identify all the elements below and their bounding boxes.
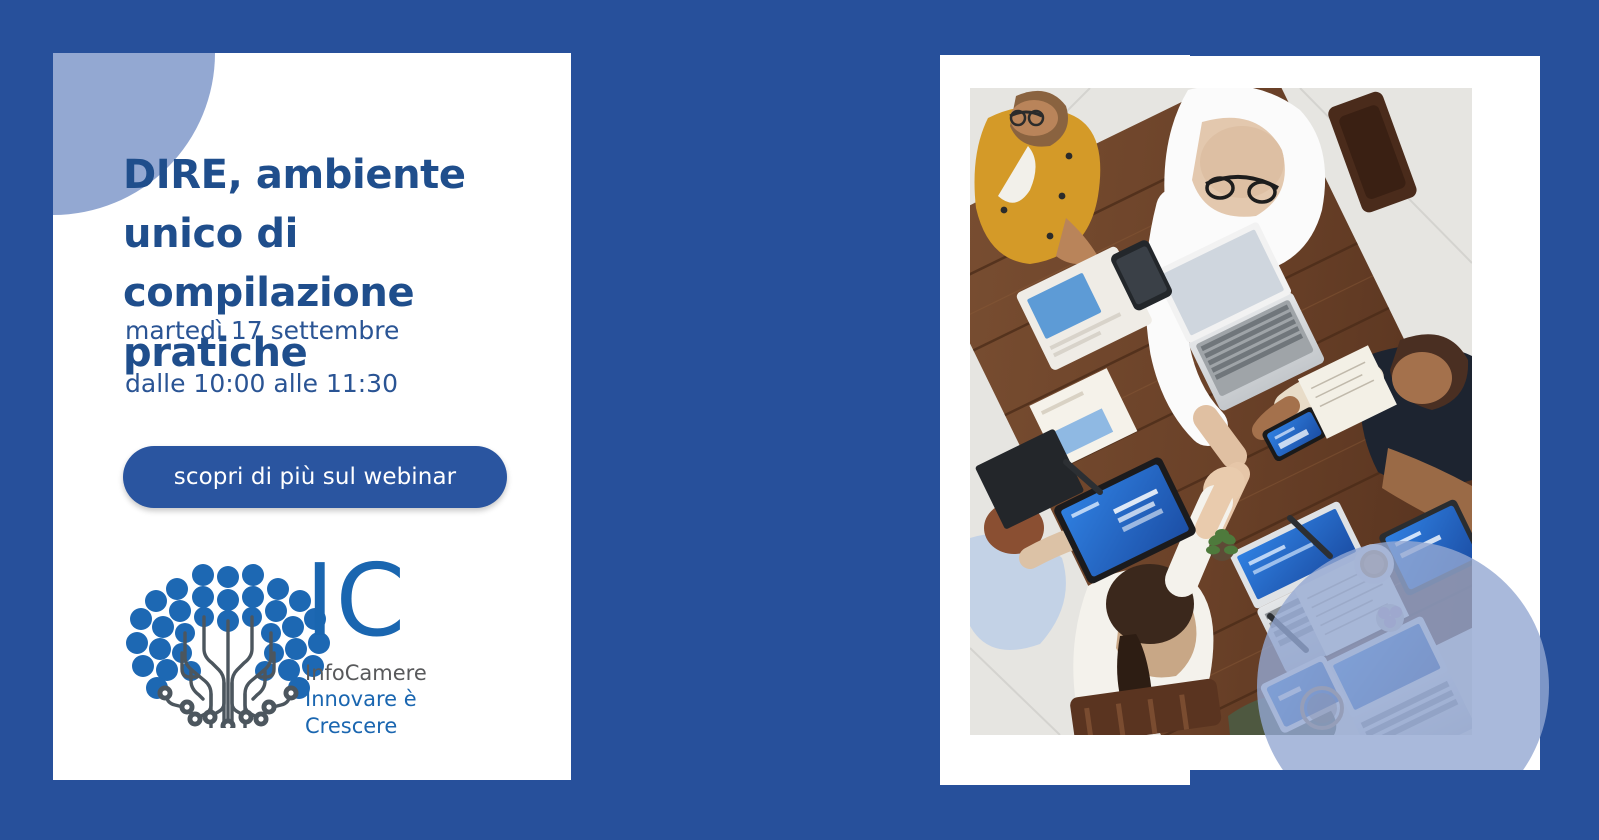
logo-tagline: Innovare è Crescere xyxy=(305,686,485,739)
circuit-tree-icon xyxy=(126,564,330,728)
logo-company-name: InfoCamere xyxy=(305,660,485,686)
blue-band-bottom-right xyxy=(1190,770,1540,840)
content-card: DIRE, ambiente unico di compilazione pra… xyxy=(53,53,571,780)
blue-band-top-left xyxy=(0,0,571,56)
blue-band-bottom-left xyxy=(0,779,571,840)
blue-band-far-right xyxy=(1540,0,1599,840)
event-date: martedì 17 settembre xyxy=(125,305,555,358)
event-time: dalle 10:00 alle 11:30 xyxy=(125,358,555,411)
logo-wordmark: IC xyxy=(305,551,485,651)
blue-band-top-right xyxy=(1190,0,1540,56)
content-card-inner: DIRE, ambiente unico di compilazione pra… xyxy=(123,53,563,780)
event-datetime: martedì 17 settembre dalle 10:00 alle 11… xyxy=(125,305,555,410)
promo-banner: DIRE, ambiente unico di compilazione pra… xyxy=(0,0,1599,840)
infocamere-logo: IC InfoCamere Innovare è Crescere xyxy=(125,553,485,728)
discover-webinar-button[interactable]: scopri di più sul webinar xyxy=(123,446,507,508)
